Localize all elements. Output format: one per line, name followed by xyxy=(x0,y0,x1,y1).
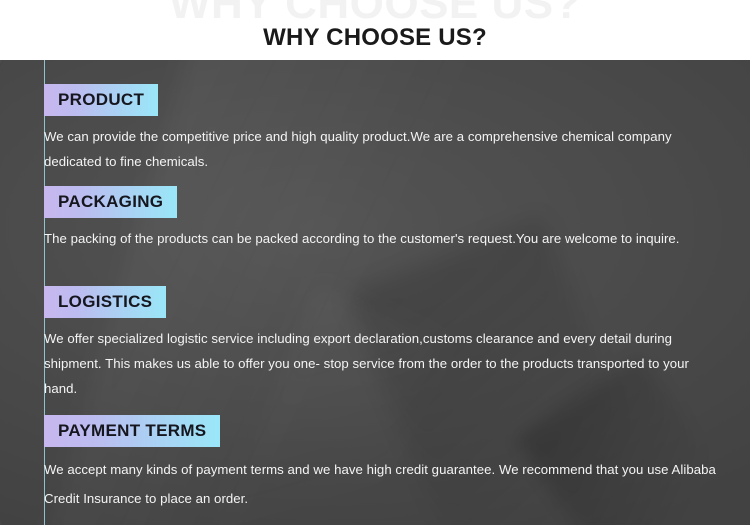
section-body-packaging: The packing of the products can be packe… xyxy=(44,226,720,251)
content-panel: PRODUCT We can provide the competitive p… xyxy=(0,60,750,525)
section-payment-terms: PAYMENT TERMS We accept many kinds of pa… xyxy=(44,415,720,513)
section-packaging: PACKAGING The packing of the products ca… xyxy=(44,186,720,251)
section-body-product: We can provide the competitive price and… xyxy=(44,124,720,174)
section-logistics: LOGISTICS We offer specialized logistic … xyxy=(44,286,720,401)
feature-sections-list: PRODUCT We can provide the competitive p… xyxy=(0,60,750,525)
section-product: PRODUCT We can provide the competitive p… xyxy=(44,84,720,174)
page-header: WHY CHOOSE US? WHY CHOOSE US? xyxy=(0,0,750,60)
section-label-payment-terms: PAYMENT TERMS xyxy=(44,415,220,447)
page-title: WHY CHOOSE US? xyxy=(0,26,750,50)
section-label-logistics: LOGISTICS xyxy=(44,286,166,318)
section-body-payment-terms: We accept many kinds of payment terms an… xyxy=(44,455,720,513)
section-label-packaging: PACKAGING xyxy=(44,186,177,218)
section-body-logistics: We offer specialized logistic service in… xyxy=(44,326,720,401)
section-label-product: PRODUCT xyxy=(44,84,158,116)
header-watermark-text: WHY CHOOSE US? xyxy=(0,0,750,26)
